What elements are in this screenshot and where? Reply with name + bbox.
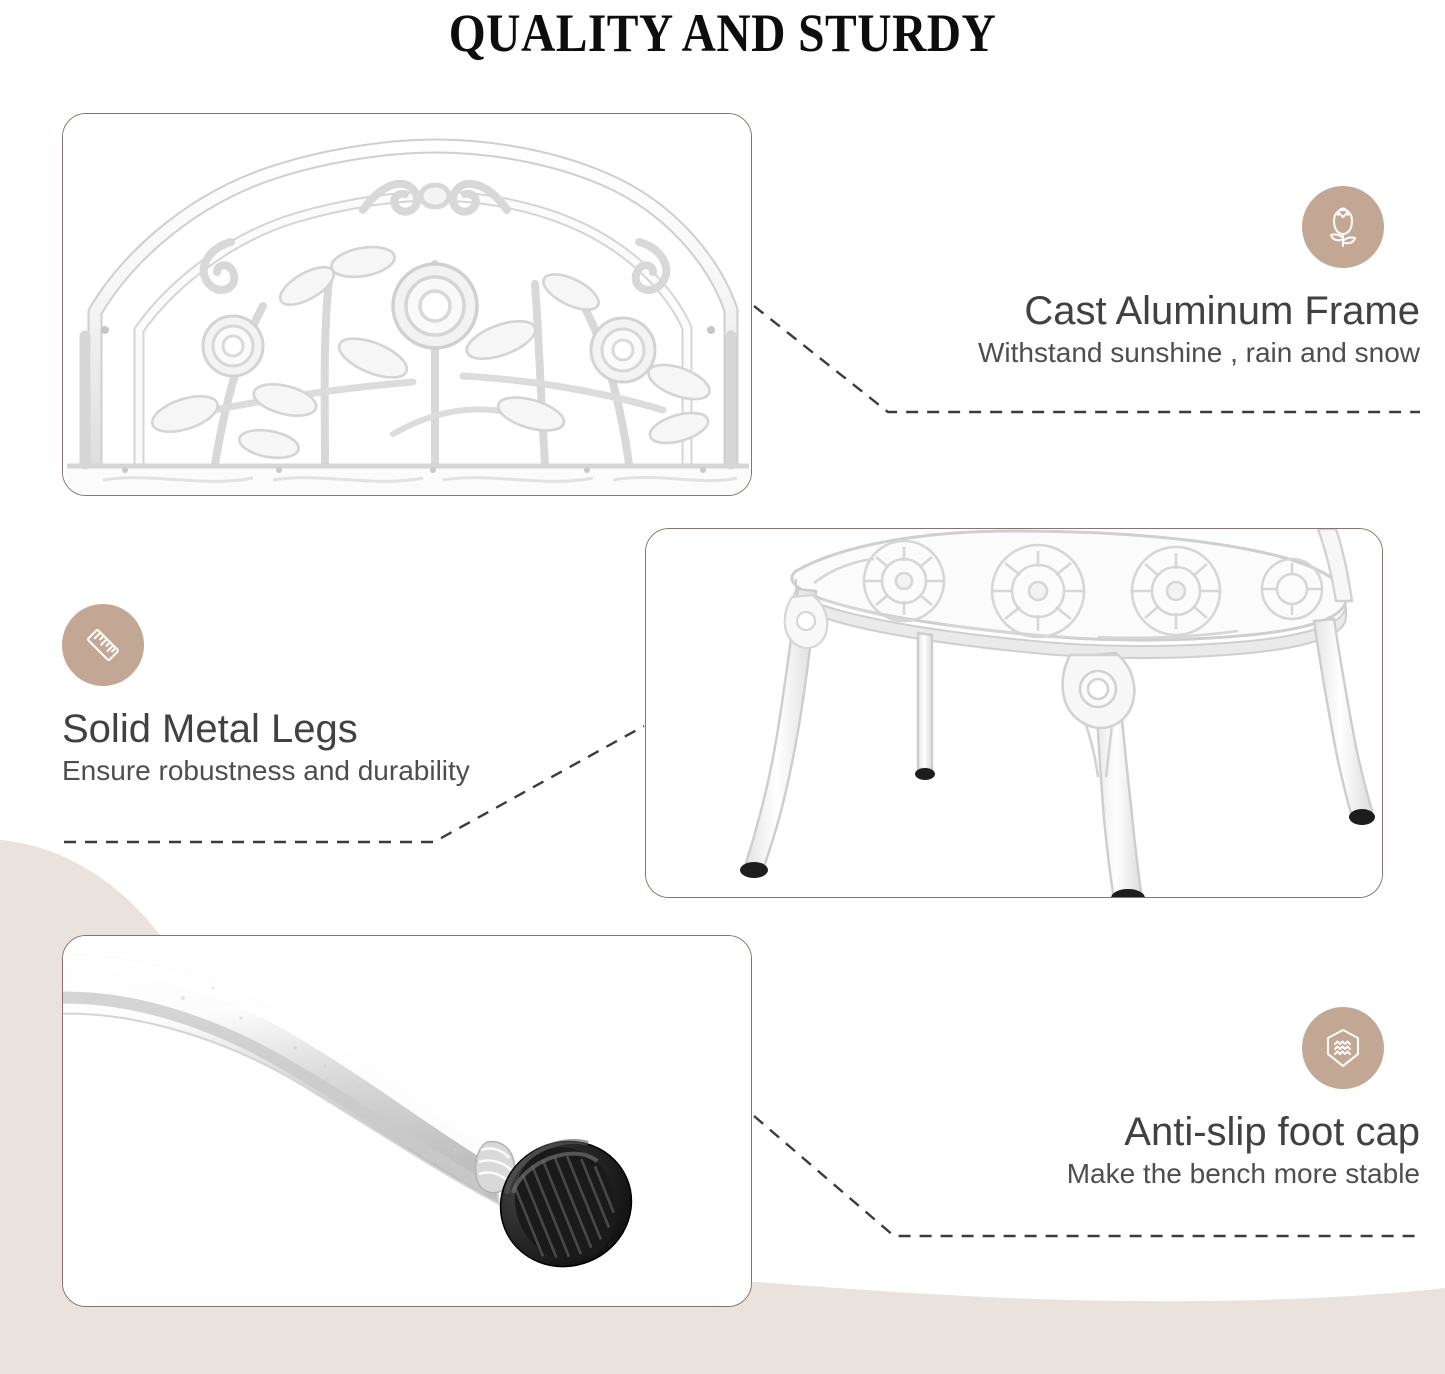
rose-icon — [1302, 186, 1384, 268]
feature-subtitle: Withstand sunshine , rain and snow — [900, 337, 1420, 369]
shield-icon — [1302, 1007, 1384, 1089]
photo-card-anti-slip-foot-cap — [62, 935, 752, 1307]
feature-title: Cast Aluminum Frame — [900, 290, 1420, 333]
feature-subtitle: Make the bench more stable — [900, 1158, 1420, 1190]
feature-title: Anti-slip foot cap — [900, 1111, 1420, 1154]
photo-card-cast-aluminum-frame — [62, 113, 752, 496]
feature-solid-metal-legs: Solid Metal Legs Ensure robustness and d… — [62, 604, 582, 787]
bench-legs-photo — [646, 529, 1382, 897]
photo-card-solid-metal-legs — [645, 528, 1383, 898]
ruler-icon — [62, 604, 144, 686]
feature-subtitle: Ensure robustness and durability — [62, 755, 582, 787]
foot-cap-photo — [63, 936, 751, 1306]
page-title: QUALITY AND STURDY — [87, 2, 1359, 64]
feature-anti-slip-foot-cap: Anti-slip foot cap Make the bench more s… — [900, 1007, 1420, 1190]
feature-title: Solid Metal Legs — [62, 708, 582, 751]
feature-cast-aluminum-frame: Cast Aluminum Frame Withstand sunshine ,… — [900, 186, 1420, 369]
bench-backrest-photo — [63, 114, 751, 495]
infographic-page: QUALITY AND STURDY — [0, 0, 1445, 1374]
